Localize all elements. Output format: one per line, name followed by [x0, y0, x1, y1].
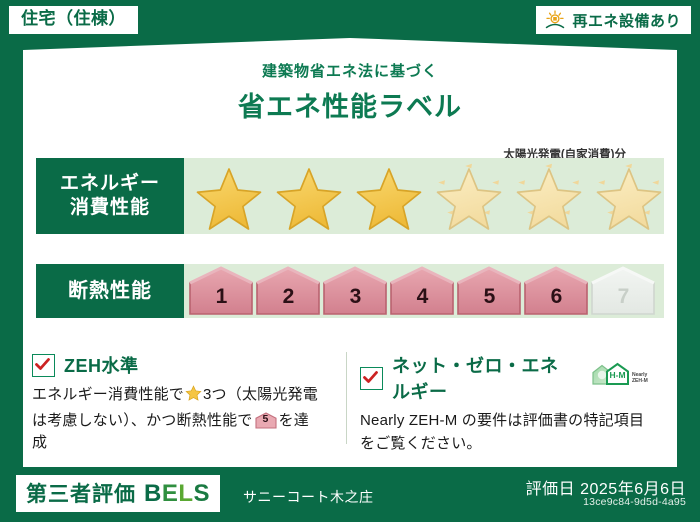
- top-bar: 住宅（住棟） 再エネ設備あり: [0, 0, 700, 40]
- renewable-equipment-badge: 再エネ設備あり: [536, 6, 691, 34]
- section-divider: [346, 352, 347, 444]
- insulation-level-value: 3: [350, 285, 362, 316]
- page-title: 省エネ性能ラベル: [0, 85, 700, 124]
- bels-badge: 第三者評価 BELS: [16, 475, 220, 512]
- inline-house-value: 5: [255, 412, 277, 428]
- house-type-badge: 住宅（住棟）: [9, 6, 138, 34]
- star-base: [190, 160, 268, 232]
- insulation-level-4: 4: [389, 266, 456, 316]
- label-subtitle: 建築物省エネ法に基づく: [0, 60, 700, 81]
- insulation-row-body: 1 2: [184, 264, 664, 318]
- svg-text:H-M: H-M: [609, 370, 625, 380]
- nzeh-description: Nearly ZEH-M の要件は評価書の特記項目をご覧ください。: [360, 410, 652, 455]
- star-base: [350, 160, 428, 232]
- insulation-level-2: 2: [255, 266, 322, 316]
- insulation-level-3: 3: [322, 266, 389, 316]
- star-rating: [184, 158, 664, 234]
- nzeh-title: ネット・ゼロ・エネルギー: [392, 352, 575, 404]
- svg-text:ZEH-M: ZEH-M: [632, 378, 648, 384]
- insulation-level-value: 4: [417, 285, 429, 316]
- insulation-level-value: 2: [283, 285, 295, 316]
- insulation-level-value: 7: [618, 285, 630, 316]
- insulation-level-scale: 1 2: [184, 264, 664, 318]
- zeh-check-head: ZEH水準: [32, 352, 324, 378]
- insulation-level-5: 5: [456, 266, 523, 316]
- insulation-level-value: 1: [216, 285, 228, 316]
- star-solar: [430, 160, 508, 232]
- zeh-title: ZEH水準: [64, 352, 139, 378]
- renewable-badge-label: 再エネ設備あり: [572, 10, 681, 31]
- net-zero-energy-section: ネット・ゼロ・エネルギー H-M Nearly ZEH-M: [360, 352, 652, 455]
- net-zero-energy-checkbox[interactable]: [360, 367, 383, 390]
- solar-sun-icon: [544, 10, 566, 30]
- insulation-performance-row: 断熱性能 1: [36, 264, 664, 318]
- inline-house-icon: 5: [255, 412, 277, 429]
- energy-row-body: [184, 158, 664, 234]
- check-icon: [362, 369, 379, 386]
- insulation-level-1: 1: [188, 266, 255, 316]
- star-base: [270, 160, 348, 232]
- insulation-row-label: 断熱性能: [36, 264, 184, 318]
- energy-row-label-line2: 消費性能: [70, 196, 150, 220]
- star-solar: [590, 160, 668, 232]
- zeh-m-logo: H-M Nearly ZEH-M: [590, 362, 652, 395]
- footer: 第三者評価 BELS サニーコート木之庄 評価日 2025年6月6日 13ce9…: [0, 467, 700, 522]
- zeh-desc-pre: エネルギー消費性能で: [32, 386, 184, 403]
- third-party-eval-label: 第三者評価: [26, 478, 136, 508]
- energy-performance-row: エネルギー 消費性能: [36, 158, 664, 234]
- energy-performance-label: 住宅（住棟） 再エネ設備あり: [0, 0, 700, 522]
- evaluation-id: 13ce9c84-9d5d-4a95: [583, 496, 686, 508]
- building-name: サニーコート木之庄: [243, 487, 374, 507]
- zeh-checkbox[interactable]: [32, 354, 55, 377]
- energy-row-label: エネルギー 消費性能: [36, 158, 184, 234]
- star-solar: [510, 160, 588, 232]
- inline-star-icon: [185, 385, 202, 410]
- bels-logo: BELS: [144, 480, 210, 508]
- zeh-standard-section: ZEH水準 エネルギー消費性能で3つ（太陽光発電は考慮しない）、かつ断熱性能で5…: [32, 352, 324, 455]
- insulation-level-7: 7: [590, 266, 657, 316]
- zeh-description: エネルギー消費性能で3つ（太陽光発電は考慮しない）、かつ断熱性能で5を達成: [32, 384, 324, 455]
- insulation-level-value: 5: [484, 285, 496, 316]
- title-block: 建築物省エネ法に基づく 省エネ性能ラベル: [0, 60, 700, 124]
- energy-row-label-line1: エネルギー: [60, 172, 160, 196]
- check-icon: [34, 356, 51, 373]
- insulation-level-value: 6: [551, 285, 563, 316]
- nzeh-check-head: ネット・ゼロ・エネルギー H-M Nearly ZEH-M: [360, 352, 652, 404]
- insulation-level-6: 6: [523, 266, 590, 316]
